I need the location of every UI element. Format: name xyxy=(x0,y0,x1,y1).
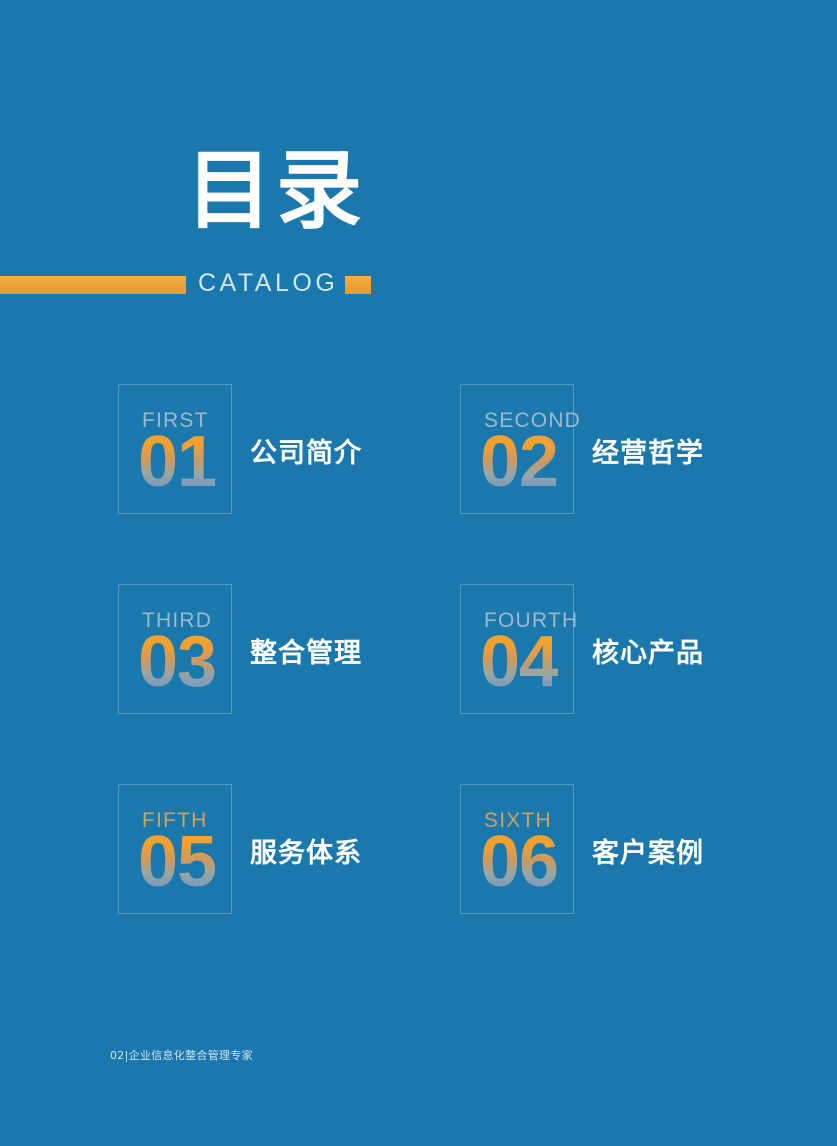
catalog-item-number: 03 xyxy=(138,626,216,698)
page-title: 目录 xyxy=(186,148,366,234)
catalog-item-06[interactable]: SIXTH 06 客户案例 xyxy=(452,768,832,968)
catalog-item-title[interactable]: 公司简介 xyxy=(250,438,362,470)
catalog-item-title[interactable]: 服务体系 xyxy=(250,838,362,870)
catalog-item-number: 02 xyxy=(480,426,558,498)
slide-header: 目录 CATALOG xyxy=(0,148,837,308)
catalog-item-title[interactable]: 整合管理 xyxy=(250,638,362,670)
catalog-item-number: 04 xyxy=(480,626,558,698)
catalog-item-number: 06 xyxy=(480,826,558,898)
subtitle-row: CATALOG xyxy=(0,270,460,296)
footer-text: 02|企业信息化整合管理专家 xyxy=(110,1048,510,1064)
catalog-item-02[interactable]: SECOND 02 经营哲学 xyxy=(452,368,832,568)
accent-bar-square xyxy=(345,276,371,294)
catalog-item-05[interactable]: FIFTH 05 服务体系 xyxy=(110,768,490,968)
catalog-item-title[interactable]: 核心产品 xyxy=(592,638,704,670)
catalog-item-01[interactable]: FIRST 01 公司简介 xyxy=(110,368,490,568)
slide-canvas: 目录 CATALOG FIRST 01 公司简介 SECOND 02 经营哲学 … xyxy=(0,0,837,1146)
catalog-grid: FIRST 01 公司简介 SECOND 02 经营哲学 THIRD 03 整合… xyxy=(0,360,837,960)
catalog-item-03[interactable]: THIRD 03 整合管理 xyxy=(110,568,490,768)
catalog-item-title[interactable]: 客户案例 xyxy=(592,838,704,870)
slide-footer: 02|企业信息化整合管理专家 xyxy=(110,1048,510,1068)
catalog-item-number: 05 xyxy=(138,826,216,898)
page-subtitle: CATALOG xyxy=(198,270,338,296)
accent-bar-long xyxy=(0,276,186,294)
catalog-item-title[interactable]: 经营哲学 xyxy=(592,438,704,470)
catalog-item-04[interactable]: FOURTH 04 核心产品 xyxy=(452,568,832,768)
catalog-item-number: 01 xyxy=(138,426,216,498)
